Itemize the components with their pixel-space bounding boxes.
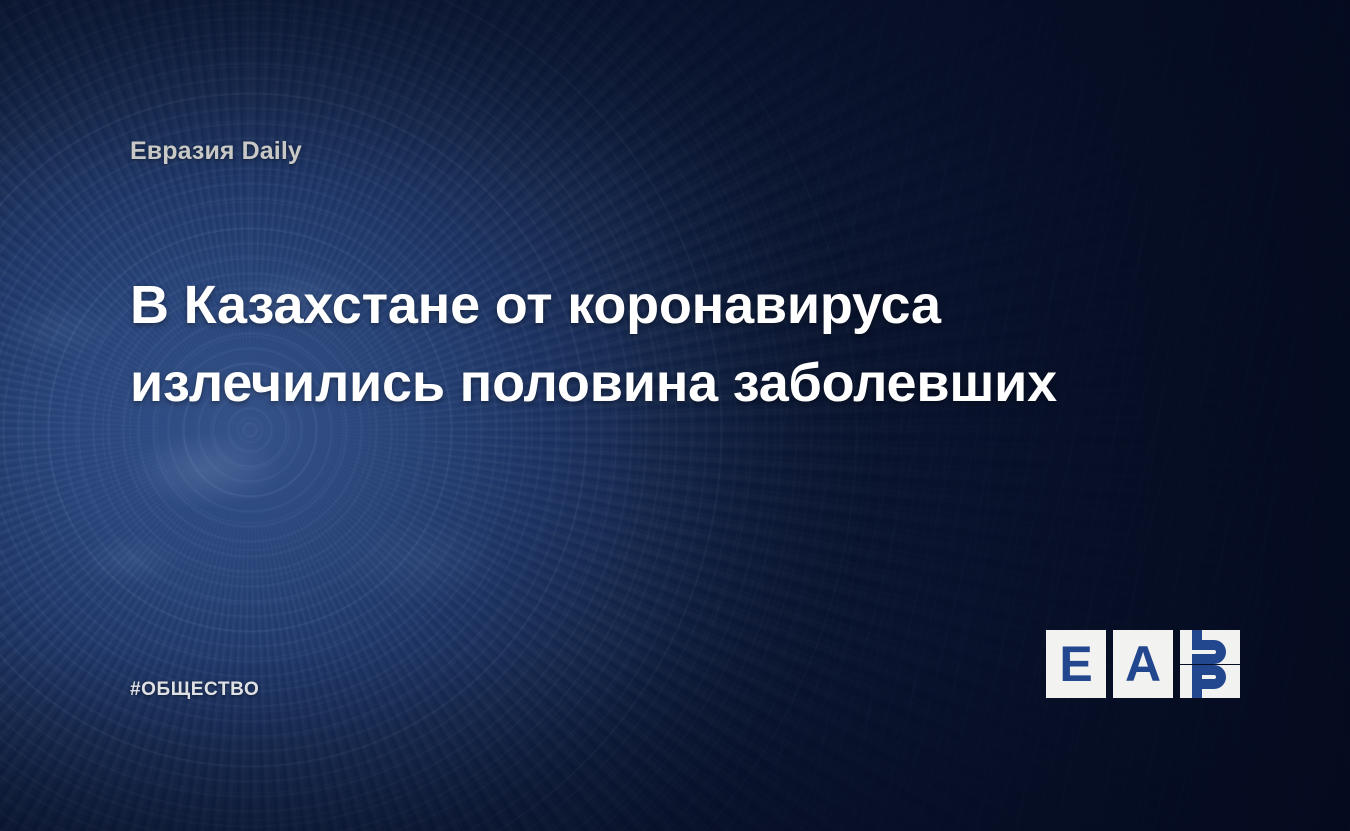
news-card: Евразия Daily В Казахстане от коронавиру… xyxy=(0,0,1350,831)
headline: В Казахстане от коронавируса излечились … xyxy=(130,266,1090,422)
logo-tile-e: E xyxy=(1046,630,1106,698)
card-content: Евразия Daily В Казахстане от коронавиру… xyxy=(0,0,1350,831)
logo-tile-a: A xyxy=(1113,630,1173,698)
ead-logo: E A xyxy=(1046,630,1220,698)
category-tag: #ОБЩЕСТВО xyxy=(130,679,259,701)
logo-letter-a: A xyxy=(1113,630,1173,698)
logo-tile-d xyxy=(1180,630,1240,698)
logo-d-upper xyxy=(1180,630,1240,664)
logo-d-lower xyxy=(1180,665,1240,699)
logo-letter-e: E xyxy=(1046,630,1106,698)
site-name: Евразия Daily xyxy=(130,137,302,166)
